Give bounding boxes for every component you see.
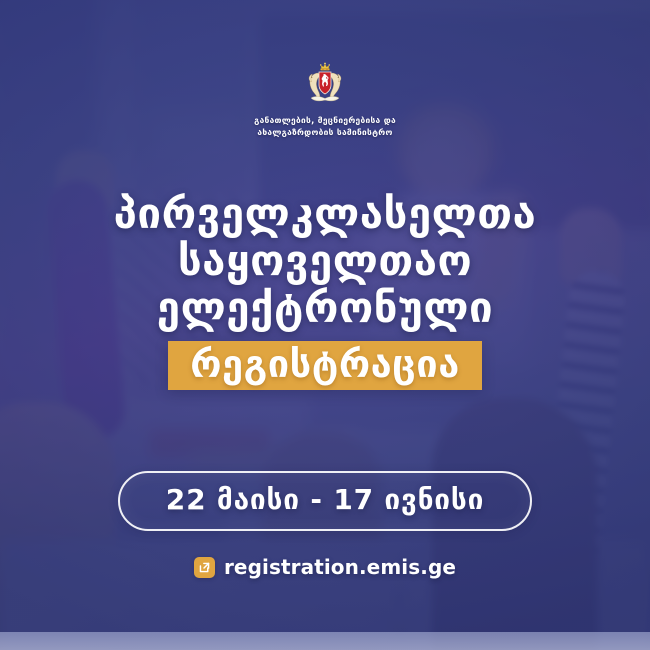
georgia-coat-of-arms-icon bbox=[306, 62, 344, 108]
ministry-brand: განათლების, მეცნიერებისა და ახალგაზრდობი… bbox=[254, 62, 396, 138]
poster-content: განათლების, მეცნიერებისა და ახალგაზრდობი… bbox=[0, 0, 650, 650]
registration-url-text[interactable]: registration.emis.ge bbox=[224, 555, 456, 579]
poster-canvas: განათლების, მეცნიერებისა და ახალგაზრდობი… bbox=[0, 0, 650, 650]
headline: პირველკლასელთა საყოველთაო ელექტრონული bbox=[114, 190, 537, 331]
registration-badge: რეგისტრაცია bbox=[168, 341, 482, 390]
ministry-name: განათლების, მეცნიერებისა და ახალგაზრდობი… bbox=[254, 115, 396, 138]
registration-url-row[interactable]: registration.emis.ge bbox=[194, 555, 456, 579]
ministry-name-line1: განათლების, მეცნიერებისა და bbox=[254, 115, 396, 127]
external-link-icon bbox=[194, 557, 215, 578]
headline-line-3: ელექტრონული bbox=[114, 284, 537, 331]
date-range-pill: 22 მაისი - 17 ივნისი bbox=[118, 471, 532, 531]
ministry-name-line2: ახალგაზრდობის სამინისტრო bbox=[254, 127, 396, 139]
headline-line-1: პირველკლასელთა bbox=[114, 190, 537, 237]
headline-line-2: საყოველთაო bbox=[114, 237, 537, 284]
